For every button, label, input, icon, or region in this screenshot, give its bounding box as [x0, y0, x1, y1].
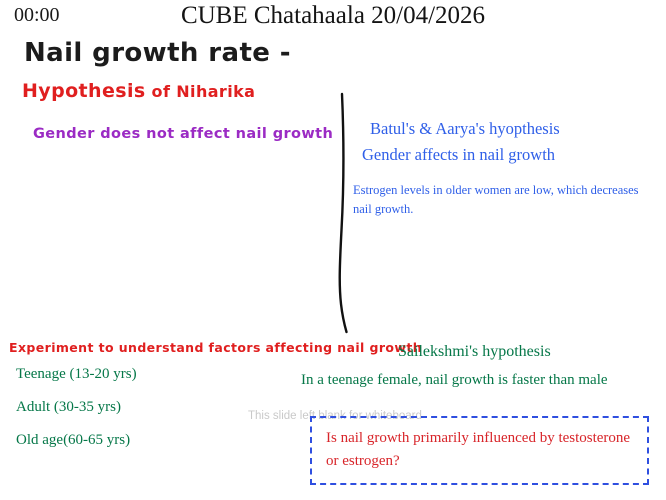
question-callout-box: Is nail growth primarily influenced by t…	[310, 416, 649, 485]
hypothesis-label-main: Hypothesis	[22, 80, 146, 102]
age-group-adult: Adult (30-35 yrs)	[16, 399, 121, 417]
estrogen-note: Estrogen levels in older women are low, …	[353, 181, 648, 219]
deck-title: CUBE Chatahaala 20/04/2026	[0, 2, 666, 30]
hypothesis-label: Hypothesis of Niharika	[22, 80, 255, 102]
batul-aarya-title: Batul's & Aarya's hyopthesis	[370, 119, 560, 138]
question-callout-text: Is nail growth primarily influenced by t…	[326, 427, 644, 474]
niharika-claim: Gender does not affect nail growth	[33, 126, 333, 143]
age-group-teenage: Teenage (13-20 yrs)	[16, 366, 137, 384]
experiment-heading: Experiment to understand factors affecti…	[9, 341, 422, 356]
batul-aarya-claim: Gender affects in nail growth	[362, 145, 555, 164]
age-group-old: Old age(60-65 yrs)	[16, 432, 130, 450]
sailekshmi-claim: In a teenage female, nail growth is fast…	[301, 370, 646, 392]
slide-canvas: 00:00 CUBE Chatahaala 20/04/2026 Nail gr…	[0, 0, 666, 500]
page-title: Nail growth rate -	[24, 38, 291, 69]
hypothesis-label-author: of Niharika	[146, 82, 256, 101]
sailekshmi-title: Sailekshmi's hypothesis	[398, 343, 551, 362]
